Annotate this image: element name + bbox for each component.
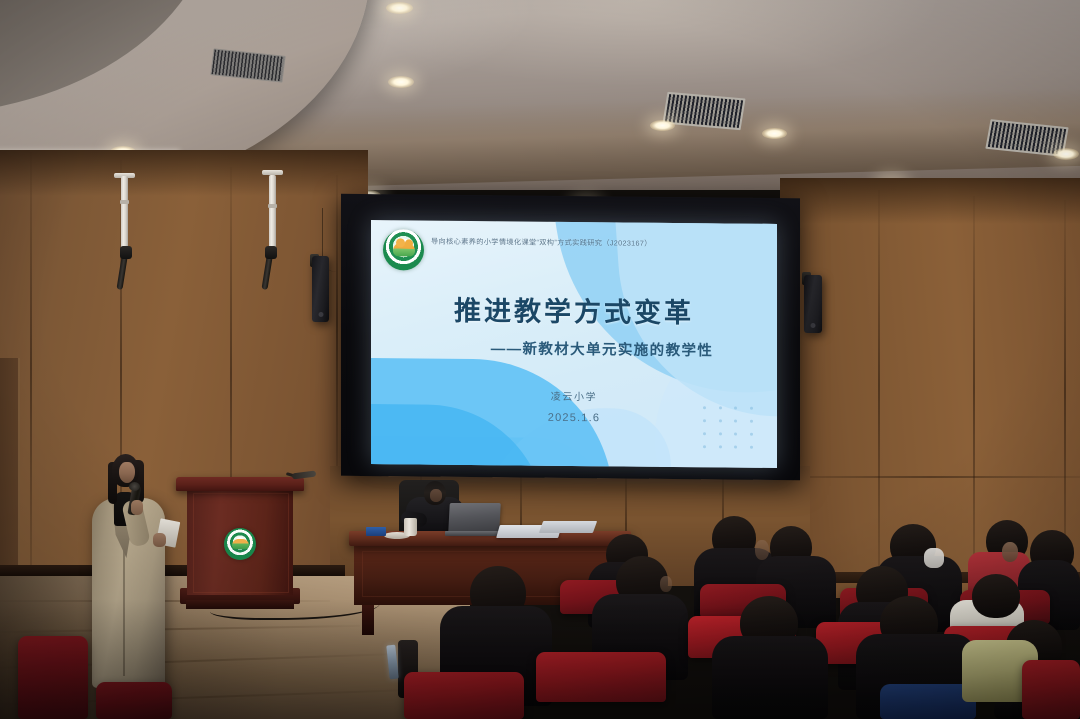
- pole-ring: [120, 200, 129, 204]
- audience-seat-front[interactable]: [536, 652, 666, 702]
- wall-seam: [30, 152, 32, 580]
- microphone-head: [129, 482, 140, 491]
- downlight: [388, 76, 414, 88]
- wall-base-trim: [0, 565, 345, 576]
- front-left-seat[interactable]: [96, 682, 172, 719]
- wall-seam: [1064, 200, 1066, 580]
- pole-ring: [268, 204, 277, 208]
- front-left-seat[interactable]: [18, 636, 88, 719]
- table-leg: [362, 601, 374, 635]
- paper-cup: [404, 518, 417, 536]
- audience-face-mask: [924, 548, 944, 568]
- projector-mount-pole: [121, 176, 128, 250]
- audience-seat-front[interactable]: [404, 672, 524, 719]
- podium-school-emblem-icon: [224, 528, 256, 560]
- wall-seam: [336, 175, 338, 475]
- printed-documents-secondary: [539, 521, 597, 533]
- downlight: [762, 128, 787, 139]
- podium-foot: [186, 600, 294, 609]
- wall-shadow-right: [780, 178, 1080, 224]
- slide-project-header: 导向核心素养的小学情境化课堂“双构”方式实践研究（J2023167）: [431, 237, 731, 250]
- presenter-hand-secondary: [153, 533, 166, 547]
- wall-shadow: [0, 150, 368, 196]
- audience-torso: [712, 636, 828, 719]
- seated-host-face: [430, 489, 442, 502]
- downlight: [386, 2, 413, 14]
- wall-speaker-left: [312, 256, 329, 322]
- camera-mount-pole: [269, 175, 276, 250]
- presentation-slide: 导向核心素养的小学情境化课堂“双构”方式实践研究（J2023167） 推进教学方…: [371, 220, 777, 468]
- downlight: [650, 120, 675, 131]
- slide-title: 推进教学方式变革: [371, 288, 777, 331]
- audience-seat-front[interactable]: [1022, 660, 1080, 719]
- blue-desk-item: [366, 527, 386, 536]
- wall-speaker-right: [804, 275, 822, 333]
- downlight: [1053, 148, 1079, 160]
- audience-ear: [660, 576, 672, 592]
- projection-screen[interactable]: 导向核心素养的小学情境化课堂“双构”方式实践研究（J2023167） 推进教学方…: [371, 220, 777, 468]
- audience-head: [972, 574, 1020, 618]
- podium-top: [176, 477, 304, 491]
- wall-panel-left: [0, 150, 368, 580]
- auditorium-scene: 导向核心素养的小学情境化课堂“双构”方式实践研究（J2023167） 推进教学方…: [0, 0, 1080, 719]
- presenter-laptop-screen[interactable]: [448, 503, 501, 533]
- wall-seam: [973, 196, 975, 582]
- wall-seam-horizontal: [782, 476, 1080, 478]
- presenter-face: [119, 462, 135, 483]
- projector-mount-head: [120, 246, 132, 259]
- slide-subtitle: ——新教材大单元实施的教学性: [371, 336, 777, 361]
- school-emblem-icon: [383, 229, 424, 270]
- slide-dot-grid: [697, 401, 759, 454]
- camera-mount-head: [265, 246, 277, 259]
- emblem-cloud-leaf-mark: [393, 242, 415, 256]
- wall-seam: [878, 190, 880, 580]
- presenter-hand: [131, 500, 143, 515]
- door-frame-left[interactable]: [0, 358, 20, 580]
- audience-face: [1002, 542, 1018, 562]
- audience-face: [755, 540, 769, 560]
